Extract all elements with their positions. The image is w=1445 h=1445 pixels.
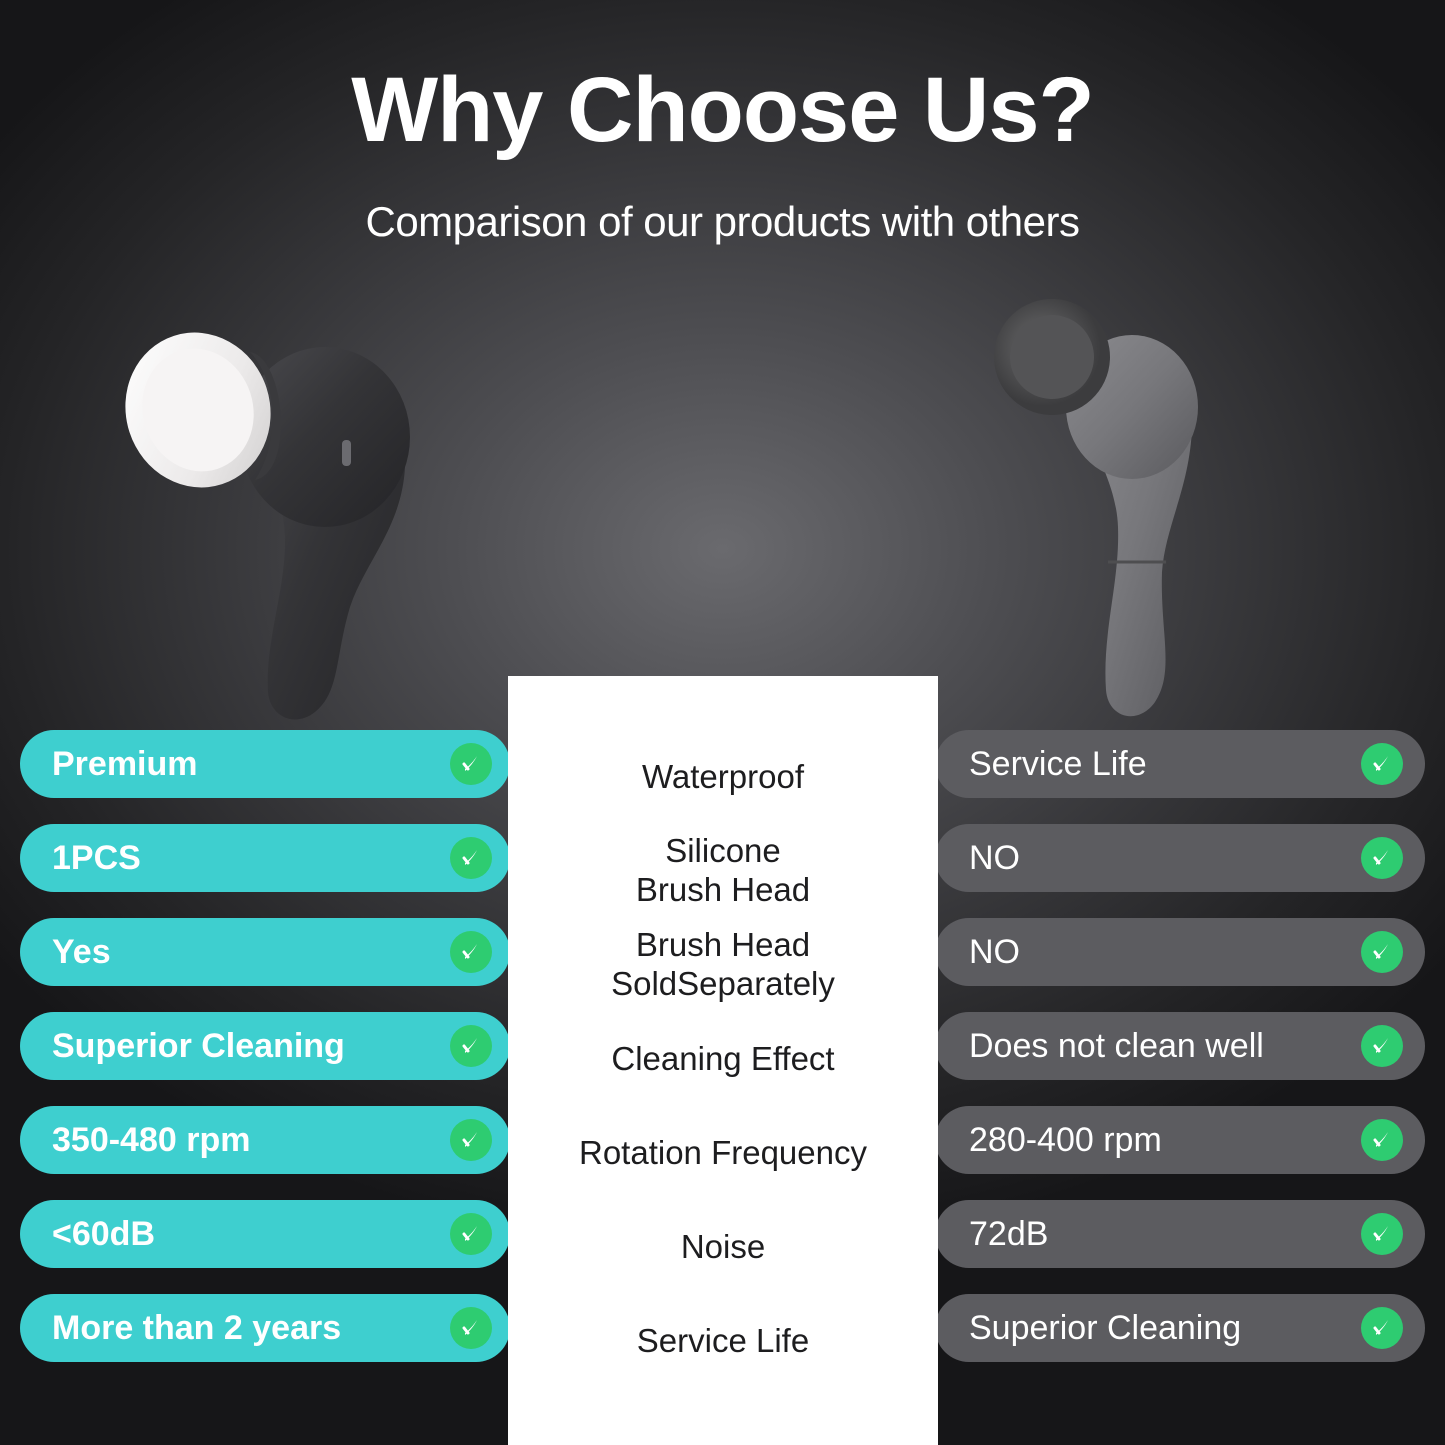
competitor-row-silicone-brush-head: NO xyxy=(935,824,1425,892)
feature-label-cleaning-effect: Cleaning Effect xyxy=(508,1012,938,1106)
feature-label-rotation-frequency: Rotation Frequency xyxy=(508,1106,938,1200)
competitor-row-waterproof: Service Life xyxy=(935,730,1425,798)
feature-label-noise: Noise xyxy=(508,1200,938,1294)
feature-label-line1: Brush Head xyxy=(636,926,810,963)
our-row-value: More than 2 years xyxy=(52,1309,341,1348)
feature-label-waterproof: Waterproof xyxy=(508,730,938,824)
our-row-value: 350-480 rpm xyxy=(52,1121,250,1160)
check-icon xyxy=(450,1307,492,1349)
feature-label-line2: Brush Head xyxy=(636,871,810,908)
our-row-cleaning-effect: Superior Cleaning xyxy=(20,1012,510,1080)
check-icon xyxy=(450,837,492,879)
competitor-row-value: Superior Cleaning xyxy=(969,1309,1241,1348)
check-icon xyxy=(450,1119,492,1161)
comparison-infographic: Why Choose Us? Comparison of our product… xyxy=(0,0,1445,1445)
feature-label-silicone-brush-head: Silicone Brush Head xyxy=(508,824,938,918)
feature-label-line2: SoldSeparately xyxy=(611,965,835,1002)
check-icon xyxy=(1361,743,1403,785)
check-icon xyxy=(1361,1025,1403,1067)
competitor-row-cleaning-effect: Does not clean well xyxy=(935,1012,1425,1080)
check-icon xyxy=(1361,1213,1403,1255)
competitor-row-brush-head-sold-separately: NO xyxy=(935,918,1425,986)
check-icon xyxy=(450,743,492,785)
our-product-image xyxy=(110,262,440,732)
our-product-rows: Premium 1PCS Yes Superior Cleaning 350-4… xyxy=(20,730,510,1388)
competitor-rows: Service Life NO NO Does not clean well 2… xyxy=(935,730,1425,1388)
competitor-row-value: NO xyxy=(969,933,1020,972)
competitor-row-value: Service Life xyxy=(969,745,1147,784)
check-icon xyxy=(1361,837,1403,879)
our-row-value: Yes xyxy=(52,933,111,972)
check-icon xyxy=(450,1025,492,1067)
our-row-brush-head-sold-separately: Yes xyxy=(20,918,510,986)
competitor-row-value: NO xyxy=(969,839,1020,878)
competitor-row-noise: 72dB xyxy=(935,1200,1425,1268)
feature-label-service-life: Service Life xyxy=(508,1294,938,1388)
our-row-silicone-brush-head: 1PCS xyxy=(20,824,510,892)
feature-label-panel: Waterproof Silicone Brush Head Brush Hea… xyxy=(508,676,938,1445)
our-row-value: Premium xyxy=(52,745,198,784)
check-icon xyxy=(1361,1307,1403,1349)
check-icon xyxy=(450,1213,492,1255)
competitor-product-image xyxy=(980,262,1280,732)
our-row-rotation-frequency: 350-480 rpm xyxy=(20,1106,510,1174)
competitor-row-rotation-frequency: 280-400 rpm xyxy=(935,1106,1425,1174)
our-row-service-life: More than 2 years xyxy=(20,1294,510,1362)
our-row-waterproof: Premium xyxy=(20,730,510,798)
competitor-row-service-life: Superior Cleaning xyxy=(935,1294,1425,1362)
page-title: Why Choose Us? xyxy=(0,62,1445,159)
feature-label-line1: Silicone xyxy=(665,832,781,869)
competitor-row-value: 280-400 rpm xyxy=(969,1121,1162,1160)
our-row-value: 1PCS xyxy=(52,839,141,878)
page-subtitle: Comparison of our products with others xyxy=(0,198,1445,246)
our-row-value: Superior Cleaning xyxy=(52,1027,345,1066)
our-row-noise: <60dB xyxy=(20,1200,510,1268)
check-icon xyxy=(450,931,492,973)
competitor-row-value: Does not clean well xyxy=(969,1027,1264,1066)
competitor-row-value: 72dB xyxy=(969,1215,1048,1254)
feature-label-brush-head-sold-separately: Brush Head SoldSeparately xyxy=(508,918,938,1012)
check-icon xyxy=(1361,1119,1403,1161)
check-icon xyxy=(1361,931,1403,973)
our-row-value: <60dB xyxy=(52,1215,155,1254)
